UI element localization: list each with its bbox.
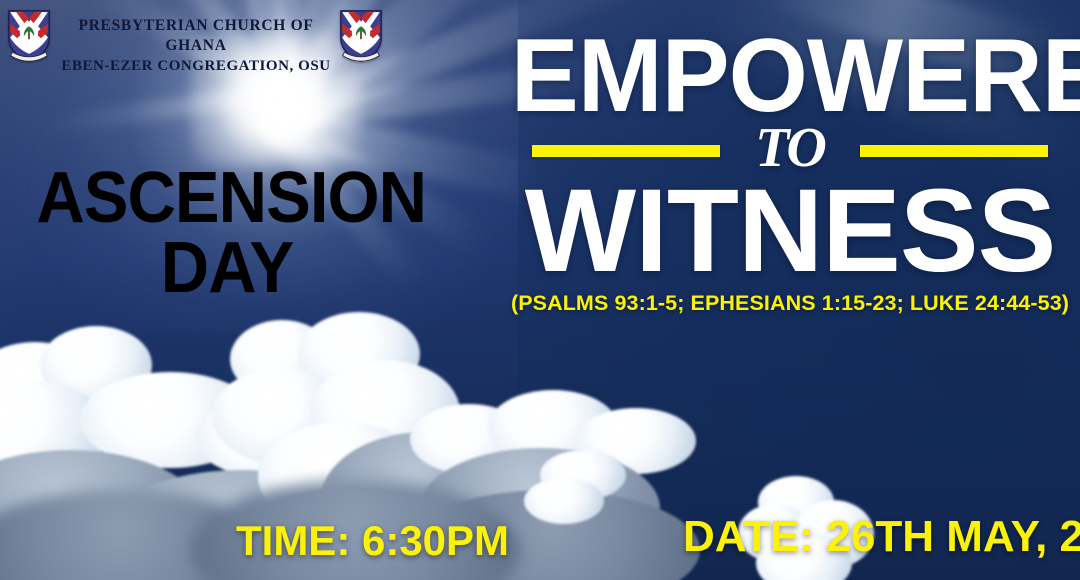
church-name-line2: EBEN-EZER CONGREGATION, OSU: [52, 57, 340, 77]
event-flyer: PRESBYTERIAN CHURCH OF GHANA EBEN-EZER C…: [0, 0, 1080, 580]
header-band: PRESBYTERIAN CHURCH OF GHANA EBEN-EZER C…: [0, 0, 1080, 70]
event-date: DATE: 26TH MAY, 2022: [683, 512, 1080, 562]
event-title-line1: ASCENSION: [36, 168, 417, 230]
cloud-layer-right-edge: [580, 440, 690, 530]
church-name: PRESBYTERIAN CHURCH OF GHANA EBEN-EZER C…: [52, 16, 340, 77]
rule-right: [860, 145, 1048, 157]
rule-left: [532, 145, 720, 157]
cloud-puff: [524, 478, 604, 524]
event-title-line2: DAY: [36, 238, 417, 300]
church-name-line1: PRESBYTERIAN CHURCH OF GHANA: [52, 16, 340, 57]
headline-word-witness: WITNESS: [505, 183, 1075, 280]
event-title: ASCENSION DAY: [22, 168, 432, 300]
crest-icon: [6, 8, 52, 63]
theme-headline: EMPOWERED TO WITNESS (PSALMS 93:1-5; EPH…: [505, 34, 1075, 316]
event-time: TIME: 6:30PM: [236, 517, 509, 565]
crest-icon: [338, 8, 384, 63]
